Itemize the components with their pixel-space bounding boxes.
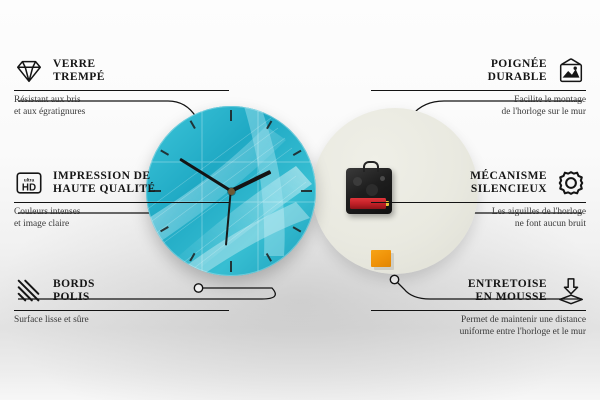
feature-title: SILENCIEUX	[470, 183, 547, 197]
feature-title: BORDS	[53, 278, 95, 292]
feature-title: VERRE	[53, 58, 105, 72]
feature-title: DURABLE	[488, 71, 547, 85]
feature-desc: Les aiguilles de l'horloge	[371, 207, 586, 219]
ultra-hd-icon: ultra HD	[14, 168, 44, 198]
hd-label: HD	[22, 183, 36, 194]
diamond-icon	[14, 56, 44, 86]
feature-title: EN MOUSSE	[468, 291, 547, 305]
feature-desc: Permet de maintenir une distance	[371, 315, 586, 327]
mechanism-dot	[353, 177, 362, 186]
feature-desc: uniforme entre l'horloge et le mur	[371, 327, 586, 339]
clock-tick	[230, 261, 232, 272]
feature-title: POIGNÉE	[488, 58, 547, 72]
feature-title: POLIS	[53, 291, 95, 305]
feature-desc: Couleurs intenses	[14, 207, 229, 219]
feature-desc: Résistant aux bris	[14, 95, 229, 107]
infographic-canvas: VERRE TREMPÉ Résistant aux bris et aux é…	[0, 0, 600, 400]
feature-callout-impression: ultra HD IMPRESSION DE HAUTE QUALITÉ Cou…	[14, 168, 229, 230]
feature-desc: ne font aucun bruit	[371, 219, 586, 231]
feature-desc: Surface lisse et sûre	[14, 315, 229, 327]
polished-edges-icon	[14, 276, 44, 306]
feature-title: MÉCANISME	[470, 170, 547, 184]
gear-icon	[556, 168, 586, 198]
clock-tick	[230, 110, 232, 121]
feature-title: HAUTE QUALITÉ	[53, 183, 156, 197]
feature-divider	[14, 202, 229, 203]
feature-divider	[371, 90, 586, 91]
feature-divider	[14, 90, 229, 91]
clock-tick	[301, 190, 312, 192]
feature-desc: et image claire	[14, 219, 229, 231]
feature-desc: Facilite le montage	[371, 95, 586, 107]
feature-callout-entretoise: ENTRETOISE EN MOUSSE Permet de maintenir…	[371, 276, 586, 338]
feature-title: IMPRESSION DE	[53, 170, 156, 184]
picture-hanger-icon	[556, 56, 586, 86]
feature-desc: et aux égratignures	[14, 107, 229, 119]
feature-divider	[371, 310, 586, 311]
feature-divider	[14, 310, 229, 311]
feature-desc: de l'horloge sur le mur	[371, 107, 586, 119]
feature-callout-poignee: POIGNÉE DURABLE Facilite le montage de l…	[371, 56, 586, 118]
feature-divider	[371, 202, 586, 203]
feature-callout-bords-polis: BORDS POLIS Surface lisse et sûre	[14, 276, 229, 327]
feature-callout-verre-trempe: VERRE TREMPÉ Résistant aux bris et aux é…	[14, 56, 229, 118]
feature-title: TREMPÉ	[53, 71, 105, 85]
feature-callout-mecanisme: MÉCANISME SILENCIEUX Les aiguilles de l'…	[371, 168, 586, 230]
foam-spacer-icon	[556, 276, 586, 306]
feature-title: ENTRETOISE	[468, 278, 547, 292]
foam-spacer	[371, 250, 391, 267]
